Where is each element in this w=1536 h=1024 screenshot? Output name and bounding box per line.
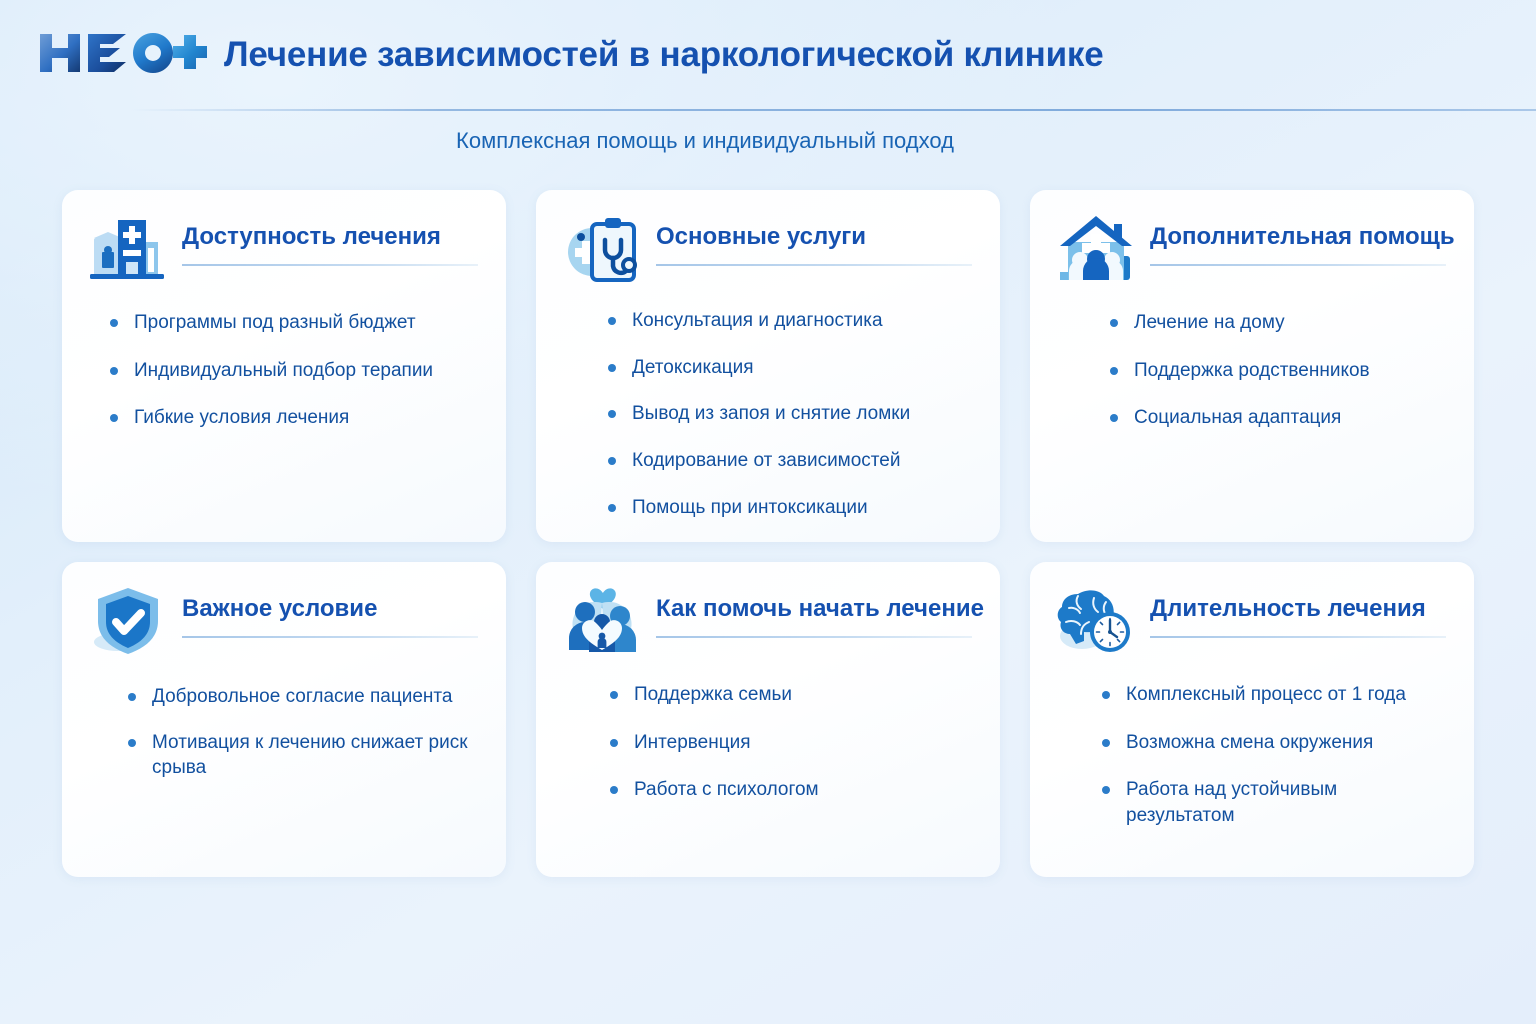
list-item-label: Поддержка семьи — [634, 684, 792, 705]
list-item: Поддержка семьи — [634, 682, 970, 708]
hospital-building-icon — [88, 212, 168, 286]
list-item-label: Социальная адаптация — [1134, 407, 1341, 428]
card-header: Доступность лечения — [62, 190, 506, 286]
card-list: Поддержка семьи Интервенция Работа с пси… — [536, 658, 1000, 803]
card-header: Дополнительная помощь — [1030, 190, 1474, 286]
list-item-label: Возможна смена окружения — [1126, 732, 1373, 753]
card-dlitelnost-lecheniya[interactable]: Длительность лечения Комплексный процесс… — [1030, 562, 1474, 877]
card-title: Длительность лечения — [1150, 596, 1446, 622]
list-item: Детоксикация — [632, 355, 970, 381]
page-header: Лечение зависимостей в наркологической к… — [0, 0, 1536, 108]
bullet-icon — [610, 691, 618, 699]
bullet-icon — [1110, 414, 1118, 422]
card-title-underline — [1150, 264, 1446, 266]
card-header: Длительность лечения — [1030, 562, 1474, 658]
page-subtitle: Комплексная помощь и индивидуальный подх… — [0, 128, 1410, 154]
bullet-icon — [1102, 739, 1110, 747]
list-item: Работа над устойчивым результатом — [1126, 777, 1444, 828]
bullet-icon — [608, 317, 616, 325]
list-item-label: Гибкие условия лечения — [134, 407, 349, 428]
card-list: Программы под разный бюджет Индивидуальн… — [62, 286, 506, 431]
list-item-label: Работа с психологом — [634, 779, 819, 800]
house-family-cross-icon — [1056, 212, 1136, 286]
list-item-label: Работа над устойчивым результатом — [1126, 779, 1337, 826]
bullet-icon — [128, 739, 136, 747]
list-item-label: Детоксикация — [632, 357, 754, 378]
card-dopolnitelnaya-pomoshch[interactable]: Дополнительная помощь Лечение на дому По… — [1030, 190, 1474, 542]
header-divider — [130, 109, 1536, 111]
list-item-label: Помощь при интоксикации — [632, 497, 868, 518]
card-header: Основные услуги — [536, 190, 1000, 286]
card-header: Важное условие — [62, 562, 506, 658]
list-item: Помощь при интоксикации — [632, 495, 970, 521]
card-title: Доступность лечения — [182, 224, 478, 250]
list-item: Индивидуальный подбор терапии — [134, 358, 476, 384]
card-list: Лечение на дому Поддержка родственников … — [1030, 286, 1474, 431]
list-item-label: Программы под разный бюджет — [134, 312, 416, 333]
card-title-underline — [182, 264, 478, 266]
clipboard-stethoscope-icon — [562, 212, 642, 286]
card-header: Как помочь начать лечение — [536, 562, 1000, 658]
bullet-icon — [110, 367, 118, 375]
bullet-icon — [1102, 691, 1110, 699]
neo-plus-logo — [36, 26, 208, 80]
list-item: Кодирование от зависимостей — [632, 448, 970, 474]
list-item-label: Консультация и диагностика — [632, 310, 883, 331]
list-item: Комплексный процесс от 1 года — [1126, 682, 1444, 708]
card-title: Важное условие — [182, 596, 478, 622]
brain-clock-icon — [1056, 584, 1136, 658]
family-heart-icon — [562, 584, 642, 658]
list-item-label: Интервенция — [634, 732, 751, 753]
list-item-label: Вывод из запоя и снятие ломки — [632, 403, 910, 424]
list-item: Программы под разный бюджет — [134, 310, 476, 336]
list-item: Работа с психологом — [634, 777, 970, 803]
list-item: Гибкие условия лечения — [134, 405, 476, 431]
card-title-underline — [656, 264, 972, 266]
card-osnovnye-uslugi[interactable]: Основные услуги Консультация и диагности… — [536, 190, 1000, 542]
infographic-canvas: Лечение зависимостей в наркологической к… — [0, 0, 1536, 1024]
list-item: Мотивация к лечению снижает риск срыва — [152, 730, 476, 781]
cards-grid: Доступность лечения Программы под разный… — [62, 190, 1474, 877]
list-item-label: Лечение на дому — [1134, 312, 1285, 333]
list-item: Социальная адаптация — [1134, 405, 1444, 431]
bullet-icon — [110, 414, 118, 422]
card-vazhnoe-uslovie[interactable]: Важное условие Добровольное согласие пац… — [62, 562, 506, 877]
page-title: Лечение зависимостей в наркологической к… — [224, 37, 1104, 72]
bullet-icon — [128, 693, 136, 701]
card-title-underline — [182, 636, 478, 638]
bullet-icon — [608, 364, 616, 372]
card-list: Комплексный процесс от 1 года Возможна с… — [1030, 658, 1474, 829]
card-kak-pomoch-nachat-lechenie[interactable]: Как помочь начать лечение Поддержка семь… — [536, 562, 1000, 877]
bullet-icon — [1110, 319, 1118, 327]
bullet-icon — [610, 786, 618, 794]
card-list: Консультация и диагностика Детоксикация … — [536, 286, 1000, 520]
bullet-icon — [110, 319, 118, 327]
card-list: Добровольное согласие пациента Мотивация… — [62, 658, 506, 781]
list-item-label: Поддержка родственников — [1134, 360, 1370, 381]
list-item-label: Комплексный процесс от 1 года — [1126, 684, 1406, 705]
bullet-icon — [608, 504, 616, 512]
list-item: Вывод из запоя и снятие ломки — [632, 401, 970, 427]
card-dostupnost-lecheniya[interactable]: Доступность лечения Программы под разный… — [62, 190, 506, 542]
list-item-label: Индивидуальный подбор терапии — [134, 360, 433, 381]
bullet-icon — [608, 410, 616, 418]
shield-check-icon — [88, 584, 168, 658]
bullet-icon — [610, 739, 618, 747]
list-item: Консультация и диагностика — [632, 308, 970, 334]
list-item: Интервенция — [634, 730, 970, 756]
list-item: Добровольное согласие пациента — [152, 684, 476, 710]
list-item-label: Мотивация к лечению снижает риск срыва — [152, 732, 468, 779]
bullet-icon — [1110, 367, 1118, 375]
list-item: Лечение на дому — [1134, 310, 1444, 336]
bullet-icon — [1102, 786, 1110, 794]
card-title: Дополнительная помощь — [1150, 224, 1446, 250]
list-item: Поддержка родственников — [1134, 358, 1444, 384]
list-item-label: Добровольное согласие пациента — [152, 686, 452, 707]
card-title: Как помочь начать лечение — [656, 596, 972, 622]
card-title: Основные услуги — [656, 224, 972, 250]
card-title-underline — [1150, 636, 1446, 638]
bullet-icon — [608, 457, 616, 465]
card-title-underline — [656, 636, 972, 638]
list-item: Возможна смена окружения — [1126, 730, 1444, 756]
list-item-label: Кодирование от зависимостей — [632, 450, 900, 471]
